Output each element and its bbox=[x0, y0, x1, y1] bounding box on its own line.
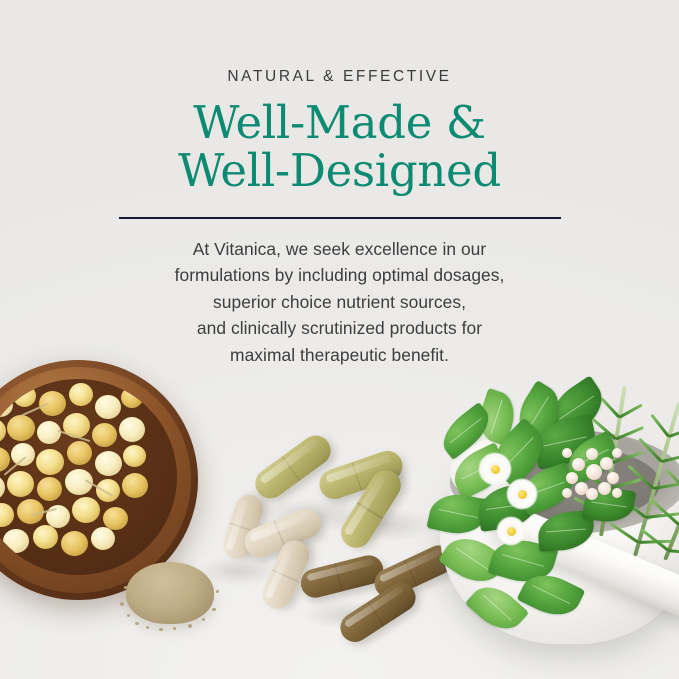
body-line-4: and clinically scrutinized products for bbox=[0, 315, 679, 341]
capsule-brown-1 bbox=[298, 552, 387, 600]
eyebrow-text: NATURAL & EFFECTIVE bbox=[0, 0, 679, 86]
floret-cluster-flower bbox=[562, 444, 624, 502]
body-line-2: formulations by including optimal dosage… bbox=[0, 262, 679, 288]
daisy-flower bbox=[506, 478, 538, 510]
daisy-flower bbox=[478, 452, 512, 486]
body-line-3: superior choice nutrient sources, bbox=[0, 289, 679, 315]
body-line-5: maximal therapeutic benefit. bbox=[0, 342, 679, 368]
page-title: Well-Made & Well-Designed bbox=[0, 86, 679, 195]
daisy-flower bbox=[496, 516, 526, 546]
headline-line-1: Well-Made & bbox=[0, 99, 679, 147]
headline-line-2: Well-Designed bbox=[0, 147, 679, 195]
body-line-1: At Vitanica, we seek excellence in our bbox=[0, 236, 679, 262]
banner-text-block: NATURAL & EFFECTIVE Well-Made & Well-Des… bbox=[0, 0, 679, 368]
brand-banner: NATURAL & EFFECTIVE Well-Made & Well-Des… bbox=[0, 0, 679, 679]
body-copy: At Vitanica, we seek excellence in our f… bbox=[0, 219, 679, 368]
